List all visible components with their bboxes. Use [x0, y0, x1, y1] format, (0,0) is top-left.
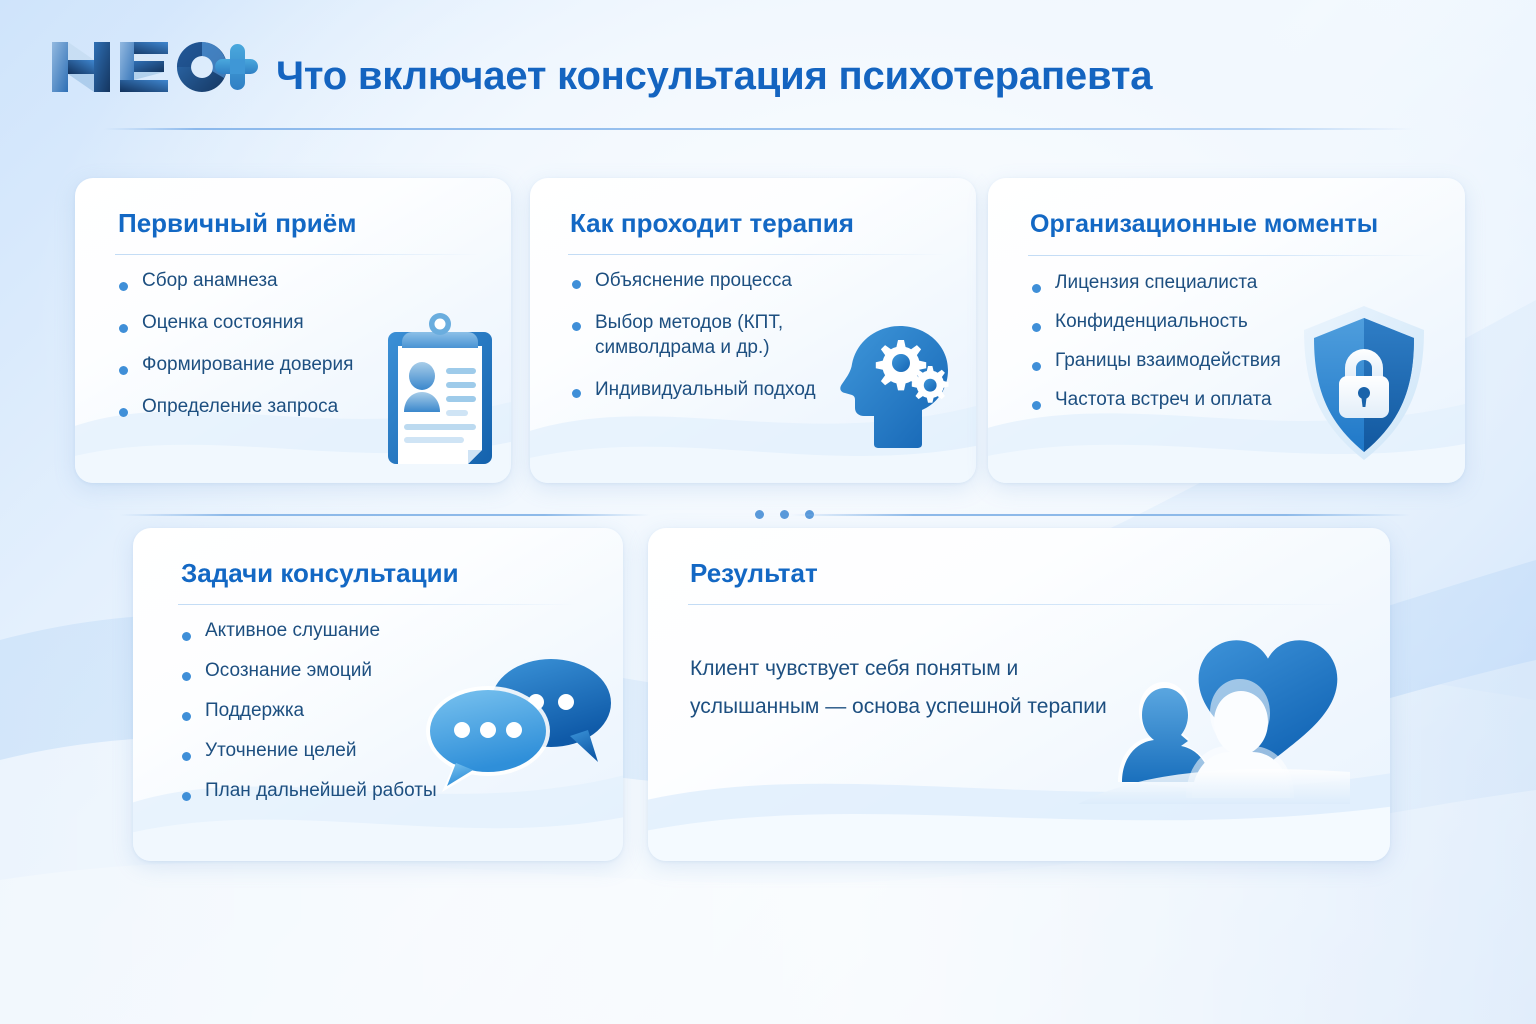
card-title-divider	[115, 254, 480, 255]
card-title-divider	[1028, 255, 1433, 256]
list-item: Выбор методов (КПТ, символдрама и др.)	[570, 310, 850, 360]
clipboard-icon	[382, 310, 498, 470]
list-item: Сбор анамнеза	[117, 270, 457, 292]
divider-line-right	[790, 514, 1410, 516]
card-title-divider	[688, 604, 1348, 605]
head-gears-icon	[840, 318, 962, 448]
page-title: Что включает консультация психотерапевта	[276, 56, 1152, 100]
speech-bubbles-icon	[418, 648, 620, 800]
heart-people-icon	[1078, 622, 1350, 804]
page-header: Что включает консультация психотерапевта	[46, 34, 1490, 100]
divider-dot	[780, 510, 789, 519]
list-item: Индивидуальный подход	[570, 377, 850, 402]
shield-lock-icon	[1298, 302, 1430, 464]
divider-line-left	[120, 514, 650, 516]
result-body-text: Клиент чувствует себя понятым и услышанн…	[690, 650, 1110, 726]
card-title-divider	[568, 254, 946, 255]
card-title: Результат	[690, 558, 818, 589]
section-divider	[120, 509, 1410, 521]
header-divider	[104, 128, 1414, 130]
list-item: Активное слушание	[180, 620, 510, 642]
card-title: Первичный приём	[118, 208, 356, 239]
divider-dot	[755, 510, 764, 519]
card-title: Организационные моменты	[1030, 210, 1378, 239]
card-title: Как проходит терапия	[570, 208, 854, 239]
list-item: Объяснение процесса	[570, 268, 850, 293]
card-bullet-list: Объяснение процесса Выбор методов (КПТ, …	[570, 268, 850, 419]
card-title: Задачи консультации	[181, 558, 459, 589]
list-item: Лицензия специалиста	[1030, 272, 1360, 294]
card-title-divider	[178, 604, 578, 605]
neo-plus-logo	[46, 34, 258, 100]
